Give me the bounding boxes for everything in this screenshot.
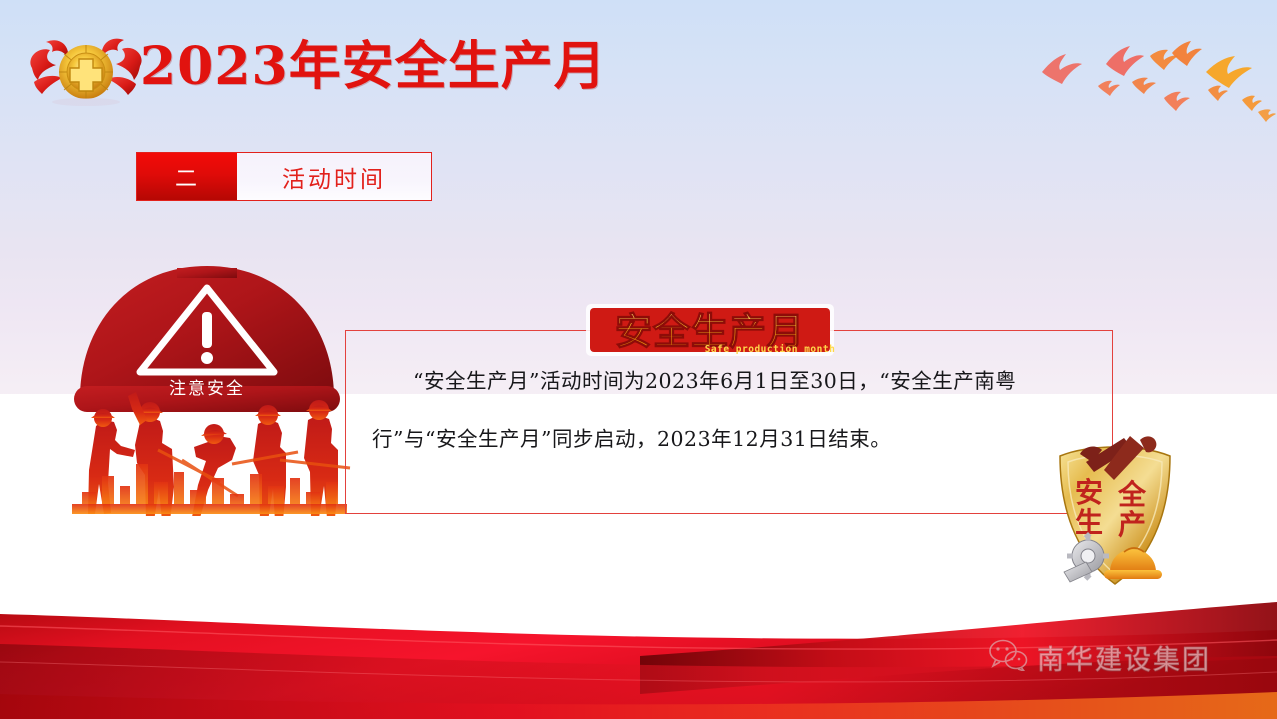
gold-shield-safety-production-icon: 安 全 生 产	[1052, 432, 1177, 592]
gold-banner-subtitle: Safe production month	[705, 344, 836, 355]
section-tab[interactable]: 二 活动时间	[136, 152, 432, 201]
watermark-text: 南华建设集团	[1037, 638, 1211, 677]
safety-helmet-warning-icon: 注意安全	[62, 246, 352, 516]
footer-watermark: 南华建设集团	[988, 638, 1211, 677]
gold-banner-safe-production-month-icon: 安全生产月 Safe production month	[582, 300, 838, 364]
flying-birds-flock-icon	[1020, 20, 1277, 130]
activity-time-paragraph: “安全生产月”活动时间为2023年6月1日至30日，“安全生产南粤行”与“安全生…	[372, 352, 1072, 468]
page-title: 2023年安全生产月	[140, 36, 607, 98]
safety-production-emblem-icon	[24, 32, 148, 106]
helmet-caption: 注意安全	[169, 379, 245, 399]
shield-text-line1-b: 全	[1117, 478, 1147, 511]
section-number: 二	[137, 153, 237, 200]
shield-text-line1-a: 安	[1075, 476, 1103, 509]
shield-text-line2-b: 产	[1118, 508, 1146, 541]
slide-canvas: 2023年安全生产月 二 活动时间	[0, 0, 1277, 719]
section-title: 活动时间	[237, 153, 431, 200]
wechat-icon	[988, 639, 1028, 676]
